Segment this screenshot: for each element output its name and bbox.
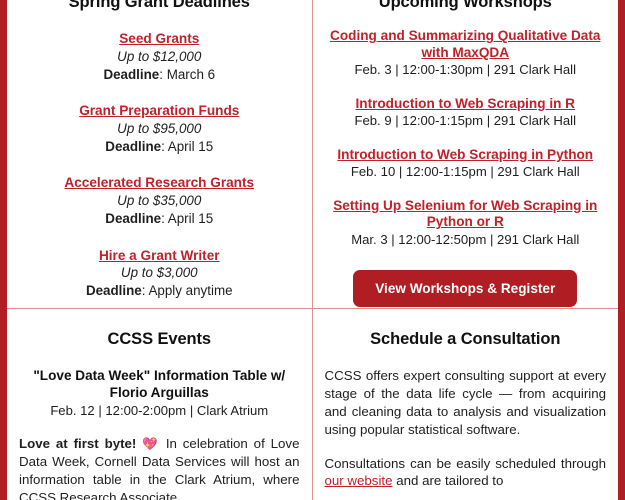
grant-link-seed-grants[interactable]: Seed Grants bbox=[19, 31, 300, 48]
grant-amount: Up to $12,000 bbox=[19, 49, 300, 66]
event-heading: "Love Data Week" Information Table w/ Fl… bbox=[19, 368, 300, 402]
grant-deadline-value: : Apply anytime bbox=[142, 283, 233, 298]
grant-deadline: Deadline: Apply anytime bbox=[19, 283, 300, 300]
grant-amount: Up to $95,000 bbox=[19, 121, 300, 138]
workshop-link-web-scraping-python[interactable]: Introduction to Web Scraping in Python bbox=[325, 147, 607, 164]
grant-entry: Seed Grants Up to $12,000 Deadline: Marc… bbox=[19, 31, 300, 83]
our-website-link[interactable]: our website bbox=[325, 473, 393, 488]
grant-deadline: Deadline: April 15 bbox=[19, 139, 300, 156]
panel-grid: Spring Grant Deadlines Seed Grants Up to… bbox=[7, 0, 618, 500]
panel-consultation: Schedule a Consultation CCSS offers expe… bbox=[313, 308, 619, 500]
workshop-meta: Feb. 10 | 12:00-1:15pm | 291 Clark Hall bbox=[325, 164, 607, 180]
grant-deadline-value: : March 6 bbox=[159, 67, 215, 82]
events-body-paragraph: Love at first byte! 💖 In celebration of … bbox=[19, 435, 300, 500]
grant-entry: Grant Preparation Funds Up to $95,000 De… bbox=[19, 103, 300, 155]
workshops-title: Upcoming Workshops bbox=[325, 0, 607, 11]
newsletter-body: Spring Grant Deadlines Seed Grants Up to… bbox=[0, 0, 625, 500]
consultation-para2-before: Consultations can be easily scheduled th… bbox=[325, 456, 607, 471]
consultation-para2-after: and are tailored to bbox=[393, 473, 504, 488]
grant-link-accelerated-research-grants[interactable]: Accelerated Research Grants bbox=[19, 175, 300, 192]
grant-deadline: Deadline: April 15 bbox=[19, 211, 300, 228]
workshop-entry: Setting Up Selenium for Web Scraping in … bbox=[325, 198, 607, 249]
grant-entry: Hire a Grant Writer Up to $3,000 Deadlin… bbox=[19, 248, 300, 300]
view-workshops-register-button[interactable]: View Workshops & Register bbox=[353, 270, 577, 307]
grant-deadline: Deadline: March 6 bbox=[19, 67, 300, 84]
grant-deadline-label: Deadline bbox=[86, 283, 142, 298]
grant-link-grant-preparation-funds[interactable]: Grant Preparation Funds bbox=[19, 103, 300, 120]
grant-amount: Up to $3,000 bbox=[19, 265, 300, 282]
events-body-lead: Love at first byte! bbox=[19, 436, 136, 451]
consultation-title: Schedule a Consultation bbox=[325, 331, 607, 348]
event-when: Feb. 12 | 12:00-2:00pm | Clark Atrium bbox=[19, 403, 300, 419]
consultation-paragraph-2: Consultations can be easily scheduled th… bbox=[325, 455, 607, 491]
grant-entry: Accelerated Research Grants Up to $35,00… bbox=[19, 175, 300, 227]
workshop-entry: Introduction to Web Scraping in Python F… bbox=[325, 147, 607, 181]
grant-deadline-label: Deadline bbox=[103, 67, 159, 82]
grant-deadline-label: Deadline bbox=[105, 211, 161, 226]
workshops-cta-wrapper: View Workshops & Register bbox=[325, 270, 607, 307]
grant-link-hire-a-grant-writer[interactable]: Hire a Grant Writer bbox=[19, 248, 300, 265]
workshop-entry: Introduction to Web Scraping in R Feb. 9… bbox=[325, 96, 607, 130]
workshop-link-selenium[interactable]: Setting Up Selenium for Web Scraping in … bbox=[325, 198, 607, 231]
workshop-entry: Coding and Summarizing Qualitative Data … bbox=[325, 28, 607, 79]
workshop-meta: Mar. 3 | 12:00-12:50pm | 291 Clark Hall bbox=[325, 232, 607, 248]
panel-workshops: Upcoming Workshops Coding and Summarizin… bbox=[313, 0, 619, 308]
consultation-paragraph-1: CCSS offers expert consulting support at… bbox=[325, 367, 607, 438]
workshop-link-web-scraping-r[interactable]: Introduction to Web Scraping in R bbox=[325, 96, 607, 113]
workshop-meta: Feb. 9 | 12:00-1:15pm | 291 Clark Hall bbox=[325, 113, 607, 129]
events-title: CCSS Events bbox=[19, 331, 300, 348]
grant-deadline-value: : April 15 bbox=[161, 139, 213, 154]
panel-events: CCSS Events "Love Data Week" Information… bbox=[7, 308, 313, 500]
sparkling-heart-icon: 💖 bbox=[142, 437, 160, 451]
workshop-meta: Feb. 3 | 12:00-1:30pm | 291 Clark Hall bbox=[325, 62, 607, 78]
grant-amount: Up to $35,000 bbox=[19, 193, 300, 210]
workshop-link-maxqda[interactable]: Coding and Summarizing Qualitative Data … bbox=[325, 28, 607, 61]
grant-deadline-value: : April 15 bbox=[161, 211, 213, 226]
grants-title: Spring Grant Deadlines bbox=[19, 0, 300, 11]
grant-deadline-label: Deadline bbox=[105, 139, 161, 154]
panel-grants: Spring Grant Deadlines Seed Grants Up to… bbox=[7, 0, 313, 308]
